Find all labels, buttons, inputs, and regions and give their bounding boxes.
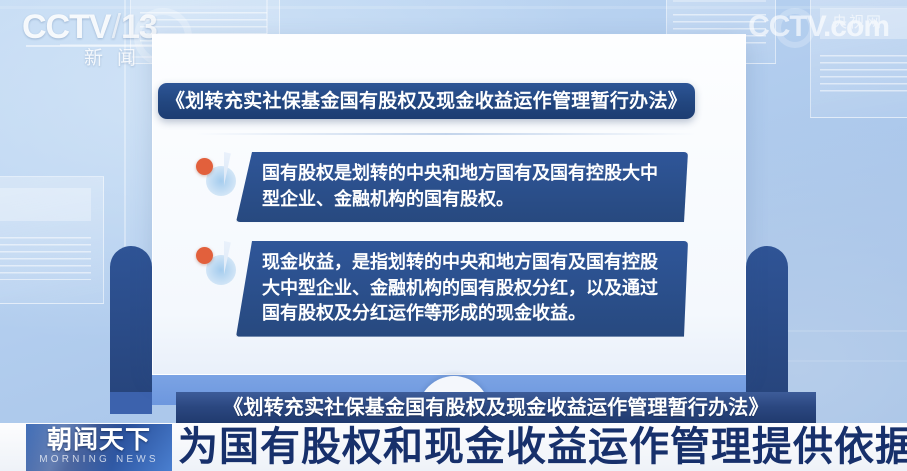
site-watermark: CCTV.com 央视网	[748, 12, 889, 42]
program-logo: 朝闻天下 MORNING NEWS	[26, 424, 172, 471]
program-name-cn: 朝闻天下	[47, 428, 151, 453]
bg-document-left	[0, 176, 104, 304]
logo-cctv-text: CCTV	[22, 10, 111, 44]
bg-bar-rightlow	[786, 360, 907, 362]
bullet-text-panel: 现金收益，是指划转的中央和地方国有及国有控股大中型企业、金融机构的国有股权分红，…	[236, 241, 688, 337]
lower-third-subheadline: 《划转充实社保基金国有股权及现金收益运作管理暂行办法》	[223, 398, 768, 418]
bullet-dot-icon	[196, 158, 213, 175]
watermark-ring-icon	[775, 8, 815, 48]
bullet-text-panel: 国有股权是划转的中央和地方国有及国有控股大中型企业、金融机构的国有股权。	[236, 152, 688, 222]
lower-third-subheadline-bar: 《划转充实社保基金国有股权及现金收益运作管理暂行办法》	[176, 392, 816, 423]
logo-slash: /	[112, 10, 120, 44]
lower-third-headline: 为国有股权和现金收益运作管理提供依据	[178, 427, 907, 467]
lower-third-headline-wrap: 为国有股权和现金收益运作管理提供依据	[178, 423, 907, 471]
decor-slab-left-foot	[110, 392, 152, 414]
bullet-text: 国有股权是划转的中央和地方国有及国有控股大中型企业、金融机构的国有股权。	[262, 163, 658, 209]
infographic-title: 《划转充实社保基金国有股权及现金收益运作管理暂行办法》	[166, 92, 687, 111]
bullet-dot-icon	[196, 247, 213, 264]
infographic-divider	[196, 133, 696, 135]
broadcast-frame: CCTV / 13 新闻 CCTV.com 央视网 《划转充实社保基金国有股权及…	[0, 0, 907, 471]
infographic-title-pill: 《划转充实社保基金国有股权及现金收益运作管理暂行办法》	[158, 83, 695, 119]
bullet-text: 现金收益，是指划转的中央和地方国有及国有控股大中型企业、金融机构的国有股权分红，…	[262, 252, 658, 323]
decor-slab-left	[110, 246, 152, 392]
program-name-en: MORNING NEWS	[39, 455, 159, 465]
watermark-site-cn: 央视网	[832, 15, 883, 30]
decor-slab-right	[746, 246, 788, 392]
